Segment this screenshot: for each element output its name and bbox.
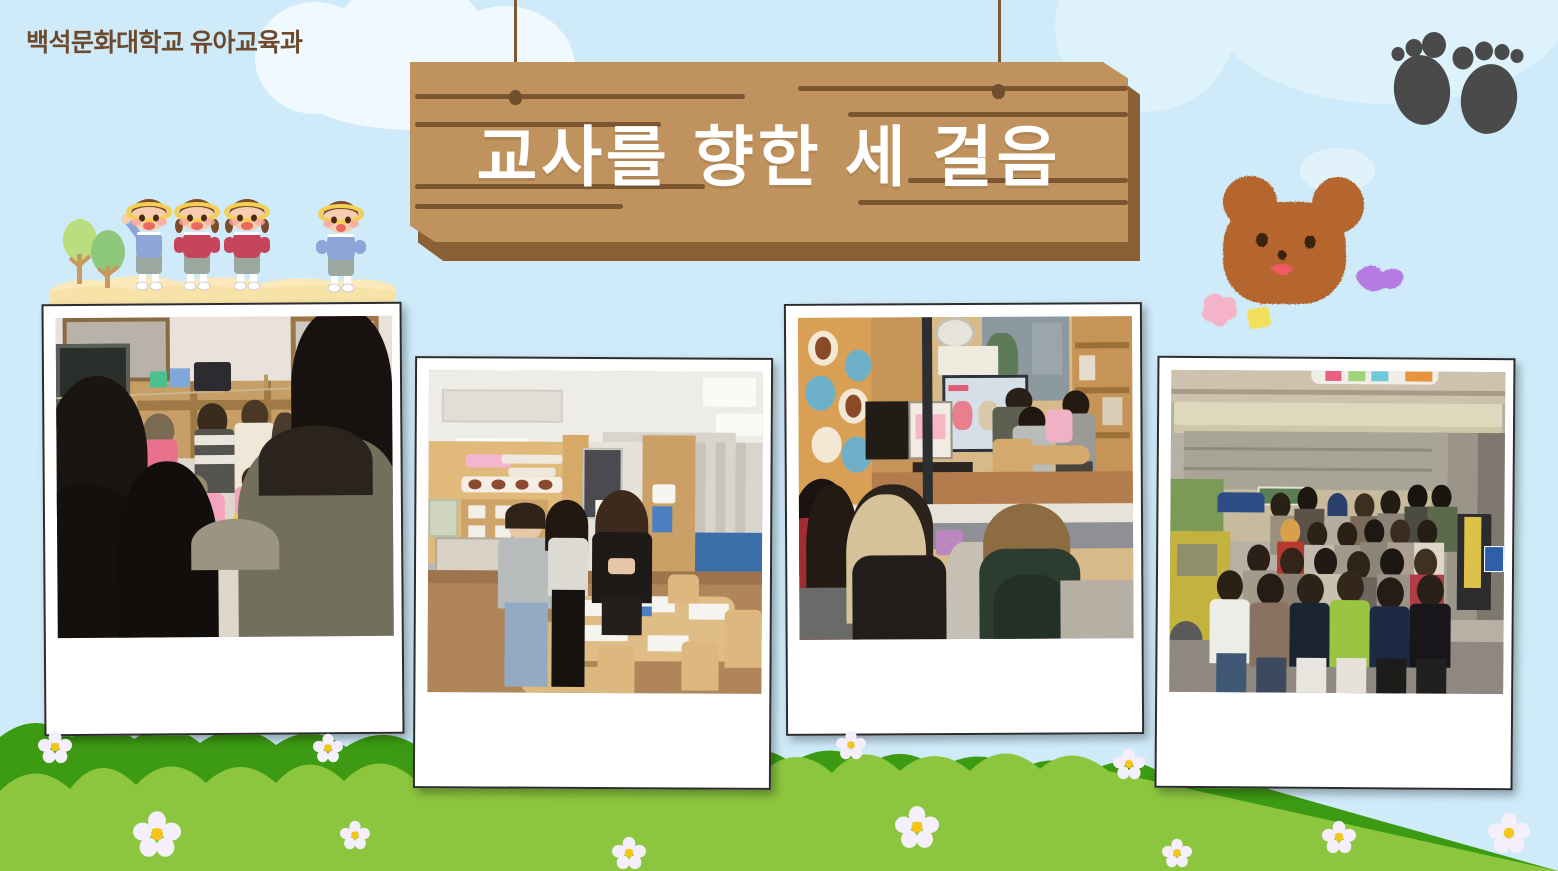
- photo-frame[interactable]: [41, 302, 404, 737]
- slide-main-title: 교사를 향한 세 걸음: [410, 62, 1128, 242]
- flower-icon: [133, 810, 181, 863]
- kindergarten-children-icon: [50, 182, 395, 307]
- photo-students-in-classroom: [427, 370, 763, 694]
- photo-frame[interactable]: [413, 356, 773, 790]
- flower-icon: [1322, 820, 1356, 859]
- flower-icon: [38, 730, 72, 769]
- flower-icon: [612, 836, 646, 871]
- flower-icon: [1162, 838, 1192, 871]
- crayon-bear-icon: [1190, 160, 1430, 340]
- baby-footprints-icon: [1378, 28, 1533, 138]
- hanging-knob-left: [509, 90, 522, 105]
- flower-icon: [1113, 748, 1145, 785]
- photo-classroom-observation: [56, 316, 394, 638]
- photo-frame[interactable]: [1154, 356, 1515, 790]
- slide-canvas: 백석문화대학교 유아교육과 교사를 향한 세 걸음: [0, 0, 1558, 871]
- department-title: 백석문화대학교 유아교육과: [26, 23, 302, 59]
- flower-icon: [1488, 812, 1530, 859]
- flower-icon: [340, 820, 370, 855]
- hanging-knob-right: [992, 84, 1005, 99]
- photo-group-portrait: [1169, 370, 1505, 694]
- flower-icon: [313, 733, 343, 768]
- flower-icon: [836, 730, 866, 765]
- photo-frame[interactable]: [784, 302, 1144, 736]
- flower-icon: [895, 805, 939, 854]
- photo-observation-window: [798, 316, 1134, 640]
